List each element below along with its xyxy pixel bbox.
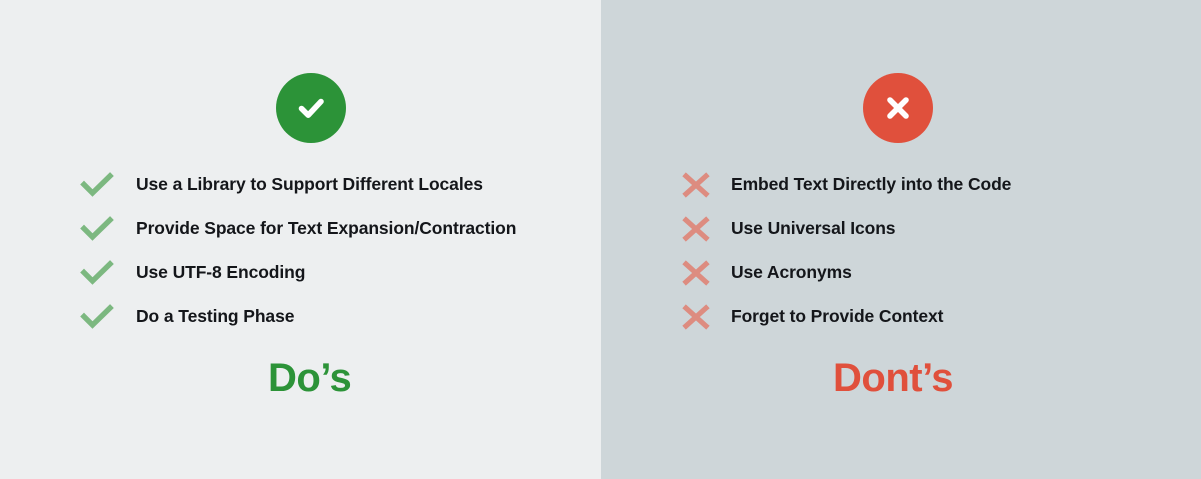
dos-panel: Use a Library to Support Different Local… bbox=[0, 0, 601, 479]
list-item-label: Use a Library to Support Different Local… bbox=[136, 176, 483, 194]
list-item-label: Do a Testing Phase bbox=[136, 308, 294, 326]
list-item: Embed Text Directly into the Code bbox=[601, 163, 1201, 207]
check-icon bbox=[80, 259, 118, 287]
list-item: Do a Testing Phase bbox=[0, 295, 601, 339]
check-icon bbox=[80, 171, 118, 199]
check-circle-icon bbox=[291, 88, 331, 128]
list-item: Forget to Provide Context bbox=[601, 295, 1201, 339]
list-item: Use Universal Icons bbox=[601, 207, 1201, 251]
list-item-label: Embed Text Directly into the Code bbox=[731, 176, 1011, 194]
list-item: Use Acronyms bbox=[601, 251, 1201, 295]
list-item-label: Use UTF-8 Encoding bbox=[136, 264, 305, 282]
x-icon bbox=[681, 171, 719, 199]
list-item-label: Use Acronyms bbox=[731, 264, 852, 282]
check-icon bbox=[80, 303, 118, 331]
dos-and-donts-board: Use a Library to Support Different Local… bbox=[0, 0, 1201, 479]
list-item-label: Provide Space for Text Expansion/Contrac… bbox=[136, 220, 516, 238]
donts-panel: Embed Text Directly into the Code Use Un… bbox=[601, 0, 1201, 479]
donts-list: Embed Text Directly into the Code Use Un… bbox=[601, 163, 1201, 339]
dos-title: Do’s bbox=[268, 358, 351, 398]
donts-title: Dont’s bbox=[833, 358, 953, 398]
x-circle-icon bbox=[878, 88, 918, 128]
x-icon bbox=[681, 259, 719, 287]
list-item: Use a Library to Support Different Local… bbox=[0, 163, 601, 207]
list-item-label: Use Universal Icons bbox=[731, 220, 895, 238]
check-circle-badge bbox=[276, 73, 346, 143]
dos-list: Use a Library to Support Different Local… bbox=[0, 163, 601, 339]
list-item: Use UTF-8 Encoding bbox=[0, 251, 601, 295]
x-circle-badge bbox=[863, 73, 933, 143]
x-icon bbox=[681, 215, 719, 243]
check-icon bbox=[80, 215, 118, 243]
list-item-label: Forget to Provide Context bbox=[731, 308, 943, 326]
list-item: Provide Space for Text Expansion/Contrac… bbox=[0, 207, 601, 251]
x-icon bbox=[681, 303, 719, 331]
